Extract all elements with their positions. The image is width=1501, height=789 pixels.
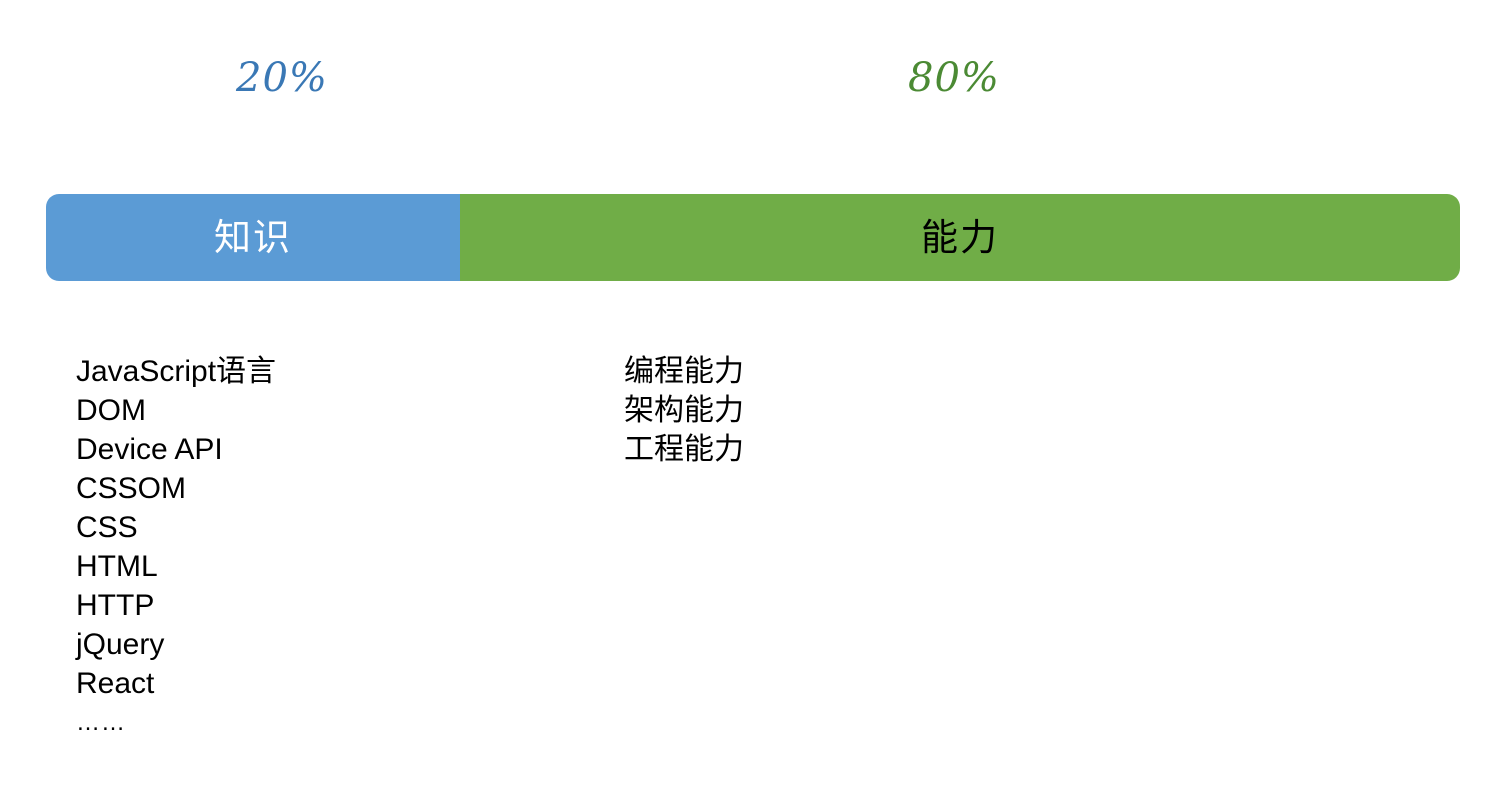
ability-list: 编程能力 架构能力 工程能力 — [624, 352, 744, 469]
bar-segment-ability-label: 能力 — [921, 219, 999, 256]
bar-segment-ability: 能力 — [460, 194, 1460, 281]
list-item-ellipsis: …… — [76, 703, 276, 742]
bar-segment-knowledge: 知识 — [46, 194, 460, 281]
list-item: jQuery — [76, 625, 276, 664]
bar-segment-knowledge-label: 知识 — [214, 219, 292, 256]
list-item: 工程能力 — [624, 430, 744, 469]
list-item: CSS — [76, 508, 276, 547]
list-item: HTML — [76, 547, 276, 586]
list-item: 架构能力 — [624, 391, 744, 430]
list-item: Device API — [76, 430, 276, 469]
list-item: JavaScript语言 — [76, 352, 276, 391]
list-item: HTTP — [76, 586, 276, 625]
ability-percentage-label: 80% — [908, 58, 1000, 98]
list-item: DOM — [76, 391, 276, 430]
proportion-bar: 知识 能力 — [46, 194, 1460, 281]
knowledge-percentage-label: 20% — [236, 58, 328, 98]
list-item: 编程能力 — [624, 352, 744, 391]
knowledge-list: JavaScript语言 DOM Device API CSSOM CSS HT… — [76, 352, 276, 742]
list-item: CSSOM — [76, 469, 276, 508]
list-item: React — [76, 664, 276, 703]
